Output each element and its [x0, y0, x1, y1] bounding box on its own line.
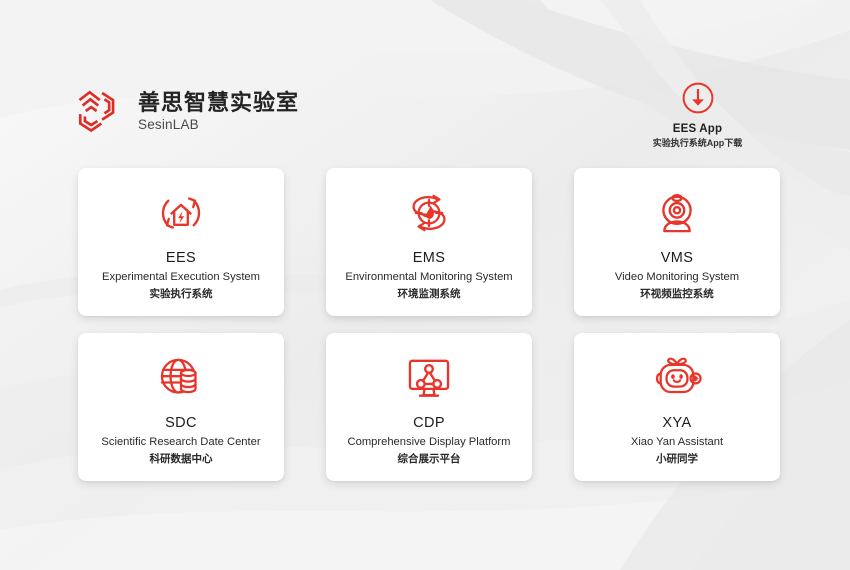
module-code: VMS [661, 250, 694, 267]
module-card-sdc[interactable]: SDC Scientific Research Date Center 科研数据… [78, 333, 284, 481]
module-card-ems[interactable]: EMS Environmental Monitoring System 环境监测… [326, 168, 532, 316]
module-grid: EES Experimental Execution System 实验执行系统 [78, 168, 780, 481]
module-code: XYA [662, 415, 691, 432]
module-name-en: Environmental Monitoring System [345, 270, 512, 284]
webcam-icon [648, 184, 706, 242]
page-title-en: SesinLAB [138, 117, 299, 132]
app-root: 善思智慧实验室 SesinLAB EES App 实验执行系统App下载 [0, 0, 850, 570]
module-name-cn: 综合展示平台 [398, 453, 461, 466]
module-name-en: Xiao Yan Assistant [631, 435, 723, 449]
ees-app-subtitle: 实验执行系统App下载 [645, 138, 750, 150]
module-name-en: Experimental Execution System [102, 270, 260, 284]
sesinlab-hex-logo-icon [74, 86, 124, 136]
monitor-network-icon [400, 349, 458, 407]
module-name-cn: 小研同学 [656, 453, 698, 466]
ees-app-title: EES App [645, 122, 750, 136]
brand-text-group: 善思智慧实验室 SesinLAB [138, 90, 299, 132]
ees-app-download[interactable]: EES App 实验执行系统App下载 [645, 80, 750, 150]
brand-header: 善思智慧实验室 SesinLAB [74, 86, 299, 136]
module-name-cn: 实验执行系统 [150, 288, 213, 301]
module-code: EMS [413, 250, 446, 267]
module-name-cn: 科研数据中心 [150, 453, 213, 466]
house-energy-cycle-icon [152, 184, 210, 242]
module-name-cn: 环视频监控系统 [640, 288, 714, 301]
module-name-cn: 环境监测系统 [398, 288, 461, 301]
module-code: CDP [413, 415, 445, 432]
download-circle-icon[interactable] [680, 80, 716, 116]
crosshair-leaf-cycle-icon [400, 184, 458, 242]
module-name-en: Comprehensive Display Platform [348, 435, 511, 449]
globe-database-icon [152, 349, 210, 407]
module-name-en: Scientific Research Date Center [101, 435, 260, 449]
module-card-xya[interactable]: XYA Xiao Yan Assistant 小研同学 [574, 333, 780, 481]
page-title-cn: 善思智慧实验室 [138, 90, 299, 115]
module-card-ees[interactable]: EES Experimental Execution System 实验执行系统 [78, 168, 284, 316]
module-name-en: Video Monitoring System [615, 270, 739, 284]
robot-assistant-icon [648, 349, 706, 407]
module-code: EES [166, 250, 196, 267]
module-card-cdp[interactable]: CDP Comprehensive Display Platform 综合展示平… [326, 333, 532, 481]
module-code: SDC [165, 415, 197, 432]
module-card-vms[interactable]: VMS Video Monitoring System 环视频监控系统 [574, 168, 780, 316]
